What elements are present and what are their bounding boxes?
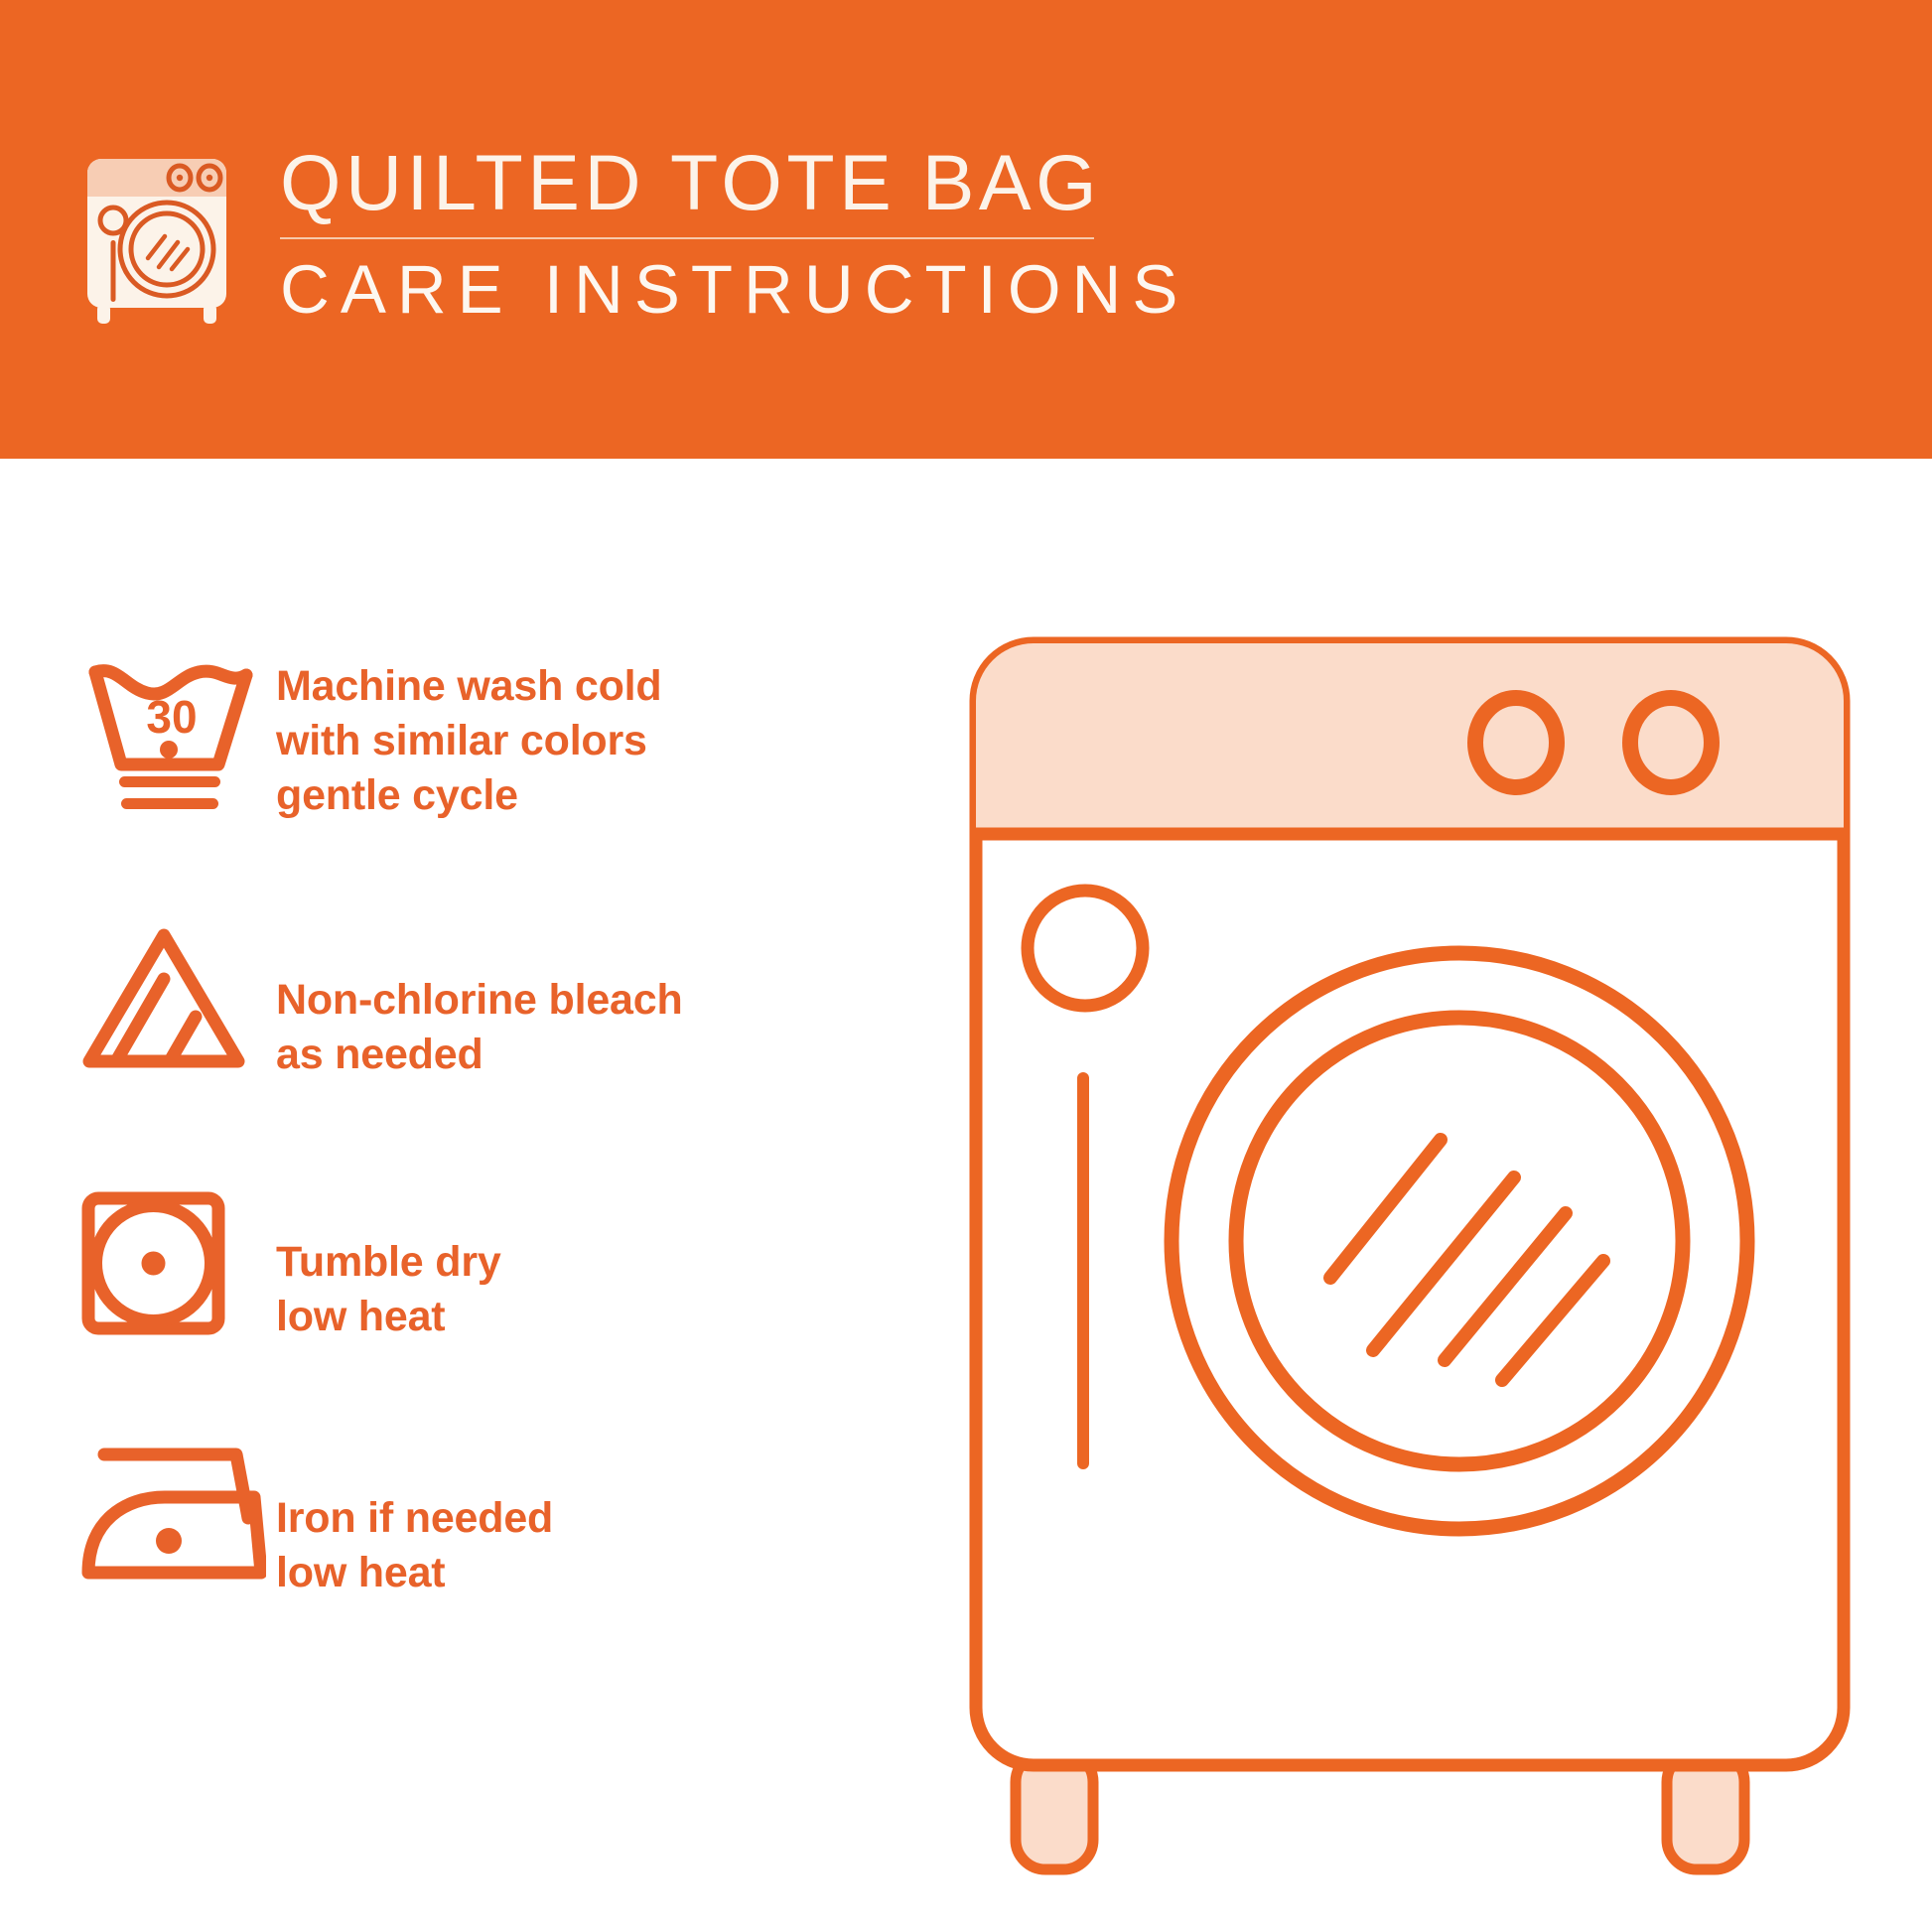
non-chlorine-bleach-triangle-icon [77,921,251,1075]
washing-machine-logo-icon [77,143,236,327]
care-item-label: Tumble dry low heat [276,1187,501,1344]
care-item-label: Iron if needed low heat [276,1444,553,1600]
header-title-block: QUILTED TOTE BAG CARE INSTRUCTIONS [280,145,1188,323]
tumble-dry-low-heat-icon [77,1187,236,1341]
wash-tub-30-gentle-icon: 30 [77,655,261,814]
iron-low-heat-icon [77,1444,266,1587]
header-content: QUILTED TOTE BAG CARE INSTRUCTIONS [77,143,1188,327]
care-item-bleach: Non-chlorine bleach as needed [77,921,892,1187]
care-instructions-page: QUILTED TOTE BAG CARE INSTRUCTIONS 30 [0,0,1932,1932]
care-item-icon-slot [77,921,276,1075]
care-item-iron: Iron if needed low heat [77,1444,892,1652]
wash-temperature-label: 30 [146,691,197,743]
care-item-tumble-dry: Tumble dry low heat [77,1187,892,1444]
washing-machine-illustration [958,625,1862,1876]
wash-dot [160,741,178,759]
care-item-label: Non-chlorine bleach as needed [276,921,683,1082]
machine-side-line [1077,1072,1089,1469]
care-instructions-list: 30 Machine wash cold with similar colors… [77,655,892,1652]
care-item-icon-slot [77,1444,276,1587]
care-item-icon-slot: 30 [77,655,276,814]
page-subtitle: CARE INSTRUCTIONS [280,255,1188,324]
care-item-label: Machine wash cold with similar colors ge… [276,655,661,823]
care-item-icon-slot [77,1187,276,1341]
page-title: QUILTED TOTE BAG [280,145,1188,219]
header-banner: QUILTED TOTE BAG CARE INSTRUCTIONS [0,0,1932,459]
title-divider [280,237,1094,239]
care-item-machine-wash: 30 Machine wash cold with similar colors… [77,655,892,921]
